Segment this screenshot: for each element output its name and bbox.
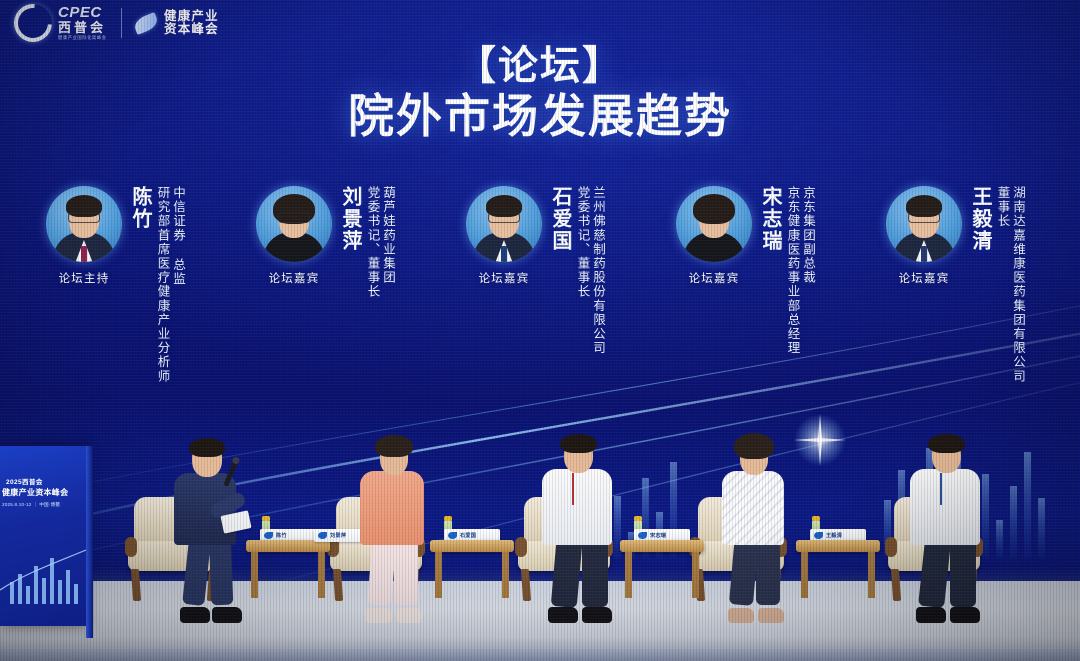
speaker-title-2: 党委书记、董事长 [576,186,589,355]
banner-chart-graphic [0,530,86,608]
seated-speaker [520,428,640,623]
speaker-role: 论坛嘉宾 [689,270,740,286]
speaker-title-1: 葫芦娃药业集团 [382,186,395,299]
seated-moderator [150,433,260,623]
avatar [46,186,122,262]
speaker-title-2: 京东健康医药事业部总经理 [786,186,799,355]
logo-latin: CPEC [58,5,109,20]
badge [568,506,575,515]
event-logo-bar: CPEC 西普会 健康产业国际化高峰会 健康产业 资本峰会 [14,4,219,42]
plate-logo-icon [318,532,327,539]
cpec-logo: CPEC 西普会 健康产业国际化高峰会 [14,4,109,42]
ring-icon [6,0,60,50]
summit-logo-line2: 资本峰会 [164,23,219,37]
speaker-card: 论坛嘉宾 石爱国 兰州佛慈制药股份有限公司 党委书记、董事长 [462,186,604,355]
plate-name: 王毅清 [826,532,842,539]
speaker-role: 论坛嘉宾 [269,270,320,286]
plate-name: 石爱国 [460,532,476,539]
logo-subline: 健康产业国际化高峰会 [58,36,106,40]
speaker-title-1: 京东集团副总裁 [802,186,815,355]
speaker-card: 论坛嘉宾 王毅清 湖南达嘉维康医药集团有限公司 董事长 [882,186,1024,383]
speaker-title-2: 党委书记、董事长 [366,186,379,299]
speaker-name: 王毅清 [970,186,990,252]
seated-speaker [890,428,1010,623]
banner-line-2: 健康产业资本峰会 [2,487,68,498]
avatar [256,186,332,262]
speaker-role: 论坛主持 [59,270,110,286]
title-line-1: 【论坛】 [0,44,1080,89]
badge [936,506,943,515]
speaker-name: 陈竹 [130,186,150,230]
summit-logo-line1: 健康产业 [164,10,219,24]
plate-logo-icon [264,532,273,539]
speaker-titles: 兰州佛慈制药股份有限公司 党委书记、董事长 [573,186,604,355]
stage-edge [0,649,1080,661]
plate-name: 陈竹 [276,532,287,539]
title-line-2: 院外市场发展趋势 [0,91,1080,142]
speaker-title-1: 中信证券 总监 [172,186,185,383]
speaker-title-2: 研究部首席医疗健康产业分析师 [156,186,169,383]
summit-logo: 健康产业 资本峰会 [134,10,219,37]
avatar [886,186,962,262]
avatar [466,186,542,262]
speaker-role: 论坛嘉宾 [479,270,530,286]
seated-speaker [700,433,810,623]
logo-divider [121,8,122,38]
plate-name: 宋志瑞 [650,532,666,539]
speaker-titles: 葫芦娃药业集团 党委书记、董事长 [363,186,394,299]
speaker-card: 论坛嘉宾 宋志瑞 京东集团副总裁 京东健康医药事业部总经理 [672,186,814,355]
speaker-titles: 中信证券 总监 研究部首席医疗健康产业分析师 [153,186,184,383]
speaker-role: 论坛嘉宾 [899,270,950,286]
speaker-titles: 湖南达嘉维康医药集团有限公司 董事长 [993,186,1024,383]
forum-title: 【论坛】 院外市场发展趋势 [0,44,1080,141]
plate-logo-icon [814,532,823,539]
speaker-name: 刘景萍 [340,186,360,252]
banner-line-1: 2025西普会 [6,476,43,486]
banner-pole [86,446,93,638]
speaker-card: 论坛嘉宾 刘景萍 葫芦娃药业集团 党委书记、董事长 [252,186,394,299]
logo-chinese: 西普会 [58,21,109,34]
speaker-name: 宋志瑞 [760,186,780,252]
speaker-name: 石爱国 [550,186,570,252]
speaker-titles: 京东集团副总裁 京东健康医药事业部总经理 [783,186,814,355]
rollup-banner: 2025西普会 健康产业资本峰会 2025.8.10-12 ｜ 中国·博鳌 [0,446,86,626]
leaf-icon [132,12,160,35]
seated-speaker [340,433,450,623]
speaker-title-1: 湖南达嘉维康医药集团有限公司 [1012,186,1025,383]
avatar [676,186,752,262]
speaker-card: 论坛主持 陈竹 中信证券 总监 研究部首席医疗健康产业分析师 [42,186,184,383]
conference-stage-photo: CPEC 西普会 健康产业国际化高峰会 健康产业 资本峰会 【论坛】 院外市场发… [0,0,1080,661]
speaker-list: 论坛主持 陈竹 中信证券 总监 研究部首席医疗健康产业分析师 论坛嘉宾 刘景萍 … [0,186,1080,436]
speaker-title-1: 兰州佛慈制药股份有限公司 [592,186,605,355]
banner-line-3: 2025.8.10-12 ｜ 中国·博鳌 [2,502,60,508]
speaker-title-2: 董事长 [996,186,1009,383]
